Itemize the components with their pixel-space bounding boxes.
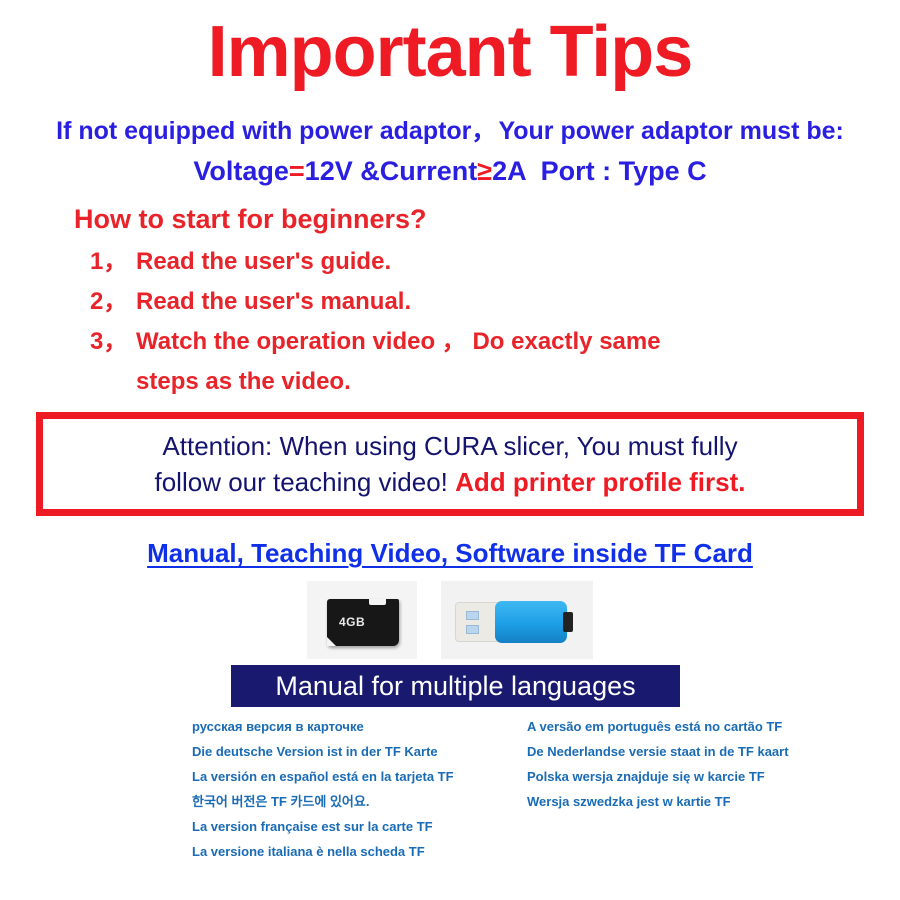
greater-equal-symbol: ≥ <box>477 156 492 186</box>
usb-card-reader-photo <box>441 581 593 659</box>
language-item-russian: русская версия в карточке <box>192 714 512 739</box>
current-value: 2A <box>492 156 526 186</box>
port-label: Port : Type C <box>541 156 707 186</box>
language-item-italian: La versione italiana è nella scheda TF <box>192 839 512 864</box>
step-number: 1， <box>90 242 136 282</box>
step-number: 3， <box>90 322 136 362</box>
language-item-spanish: La versión en español está en la tarjeta… <box>192 764 512 789</box>
language-item-polish: Polska wersja znajduje się w karcie TF <box>527 764 847 789</box>
step-number: 2， <box>90 282 136 322</box>
language-item-german: Die deutsche Version ist in der TF Karte <box>192 739 512 764</box>
list-item: 2， Read the user's manual. <box>74 282 834 322</box>
attention-line-2-red: Add printer profile first. <box>455 467 745 497</box>
usb-blue-housing <box>495 601 567 643</box>
product-photos: 4GB <box>0 578 900 662</box>
language-item-korean: 한국어 버전은 TF 카드에 있어요. <box>192 789 512 814</box>
usb-contact-pin <box>466 625 479 634</box>
attention-line-1: Attention: When using CURA slicer, You m… <box>162 428 737 464</box>
microsd-capacity-label: 4GB <box>339 615 365 629</box>
usb-card-slot <box>563 612 573 632</box>
attention-callout-box: Attention: When using CURA slicer, You m… <box>36 412 864 516</box>
microsd-bevel-corner <box>327 637 336 646</box>
adaptor-specs-line: Voltage=12V &Current≥2A Port : Type C <box>0 153 900 189</box>
adaptor-condition-text: If not equipped with power adaptor <box>56 117 471 145</box>
languages-banner-text: Manual for multiple languages <box>275 671 635 701</box>
current-label: &Current <box>360 156 477 186</box>
adaptor-comma: ， <box>471 117 498 145</box>
adaptor-requirement-line: If not equipped with power adaptor，Your … <box>0 114 900 148</box>
attention-line-2-navy: follow our teaching video! <box>155 467 448 497</box>
tf-card-contents-headline: Manual, Teaching Video, Software inside … <box>0 538 900 569</box>
attention-line-2: follow our teaching video! Add printer p… <box>155 464 746 500</box>
equals-symbol: = <box>289 156 305 186</box>
step-text: Read the user's guide. <box>136 242 834 282</box>
list-item: 1， Read the user's guide. <box>74 242 834 282</box>
important-tips-poster: Important Tips If not equipped with powe… <box>0 0 900 900</box>
usb-contact-pin <box>466 611 479 620</box>
step-text: Watch the operation video ， Do exactly s… <box>136 322 834 362</box>
language-list: русская версия в карточке Die deutsche V… <box>0 714 900 874</box>
beginner-steps-heading: How to start for beginners? <box>74 200 834 238</box>
language-item-dutch: De Nederlandse versie staat in de TF kaa… <box>527 739 847 764</box>
step-text: Read the user's manual. <box>136 282 834 322</box>
step-continuation-text: steps as the video. <box>74 362 834 402</box>
adaptor-requirement-text: Your power adaptor must be: <box>498 117 843 145</box>
usb-card-reader-body <box>455 601 575 643</box>
page-title: Important Tips <box>0 16 900 88</box>
voltage-value: 12V <box>305 156 353 186</box>
language-column-right: A versão em português está no cartão TF … <box>527 714 847 814</box>
language-column-left: русская версия в карточке Die deutsche V… <box>192 714 512 864</box>
language-item-swedish: Wersja szwedzka jest w kartie TF <box>527 789 847 814</box>
language-item-portuguese: A versão em português está no cartão TF <box>527 714 847 739</box>
languages-banner: Manual for multiple languages <box>231 665 680 707</box>
list-item: 3， Watch the operation video ， Do exactl… <box>74 322 834 362</box>
voltage-label: Voltage <box>193 156 289 186</box>
power-adaptor-requirements: If not equipped with power adaptor，Your … <box>0 114 900 189</box>
microsd-card-photo: 4GB <box>307 581 417 659</box>
language-item-french: La version française est sur la carte TF <box>192 814 512 839</box>
beginner-steps-section: How to start for beginners? 1， Read the … <box>74 200 834 402</box>
microsd-card-body: 4GB <box>327 599 399 646</box>
microsd-notch <box>369 599 386 605</box>
